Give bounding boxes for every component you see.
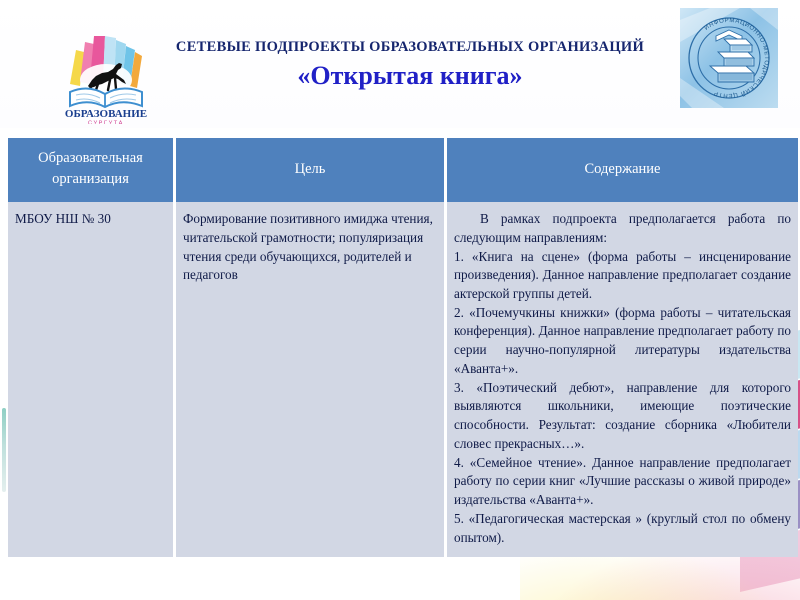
- content-item-5: 5. «Педагогическая мастерская » (круглый…: [454, 510, 791, 547]
- page-title-line1: СЕТЕВЫЕ ПОДПРОЕКТЫ ОБРАЗОВАТЕЛЬНЫХ ОРГАН…: [150, 38, 670, 56]
- subprojects-table-wrapper: Образовательная организация Цель Содержа…: [5, 138, 795, 557]
- content-lead: В рамках подпроекта предполагается работ…: [454, 210, 791, 247]
- informatsionno-metodicheskiy-tsentr-seal-icon: ИНФОРМАЦИОННО-МЕТОДИЧЕСКИЙ ЦЕНТР: [680, 8, 778, 108]
- cell-goal: Формирование позитивного имиджа чтения, …: [176, 202, 444, 557]
- obrazovanie-surguta-logo-icon: ОБРАЗОВАНИЕ СУРГУТА: [58, 22, 154, 124]
- logo-left-main-text: ОБРАЗОВАНИЕ: [65, 108, 147, 120]
- column-header-content: Содержание: [447, 138, 798, 202]
- cell-content: В рамках подпроекта предполагается работ…: [447, 202, 798, 557]
- content-item-1: 1. «Книга на сцене» (форма работы – инсц…: [454, 248, 791, 304]
- column-header-goal: Цель: [176, 138, 444, 202]
- column-header-organization: Образовательная организация: [8, 138, 173, 202]
- logo-left-sub-text: СУРГУТА: [88, 121, 124, 125]
- table-row: МБОУ НШ № 30 Формирование позитивного им…: [8, 202, 798, 557]
- content-item-3: 3. «Поэтический дебют», направление для …: [454, 379, 791, 454]
- subprojects-table: Образовательная организация Цель Содержа…: [5, 138, 800, 557]
- cell-organization: МБОУ НШ № 30: [8, 202, 173, 557]
- content-item-4: 4. «Семейное чтение». Данное направление…: [454, 454, 791, 510]
- table-header-row: Образовательная организация Цель Содержа…: [8, 138, 798, 202]
- page-title-line2: «Открытая книга»: [150, 62, 670, 91]
- slide-header: ОБРАЗОВАНИЕ СУРГУТА: [0, 0, 800, 128]
- page-title: СЕТЕВЫЕ ПОДПРОЕКТЫ ОБРАЗОВАТЕЛЬНЫХ ОРГАН…: [150, 38, 670, 91]
- content-item-2: 2. «Почемучкины книжки» (форма работы – …: [454, 304, 791, 379]
